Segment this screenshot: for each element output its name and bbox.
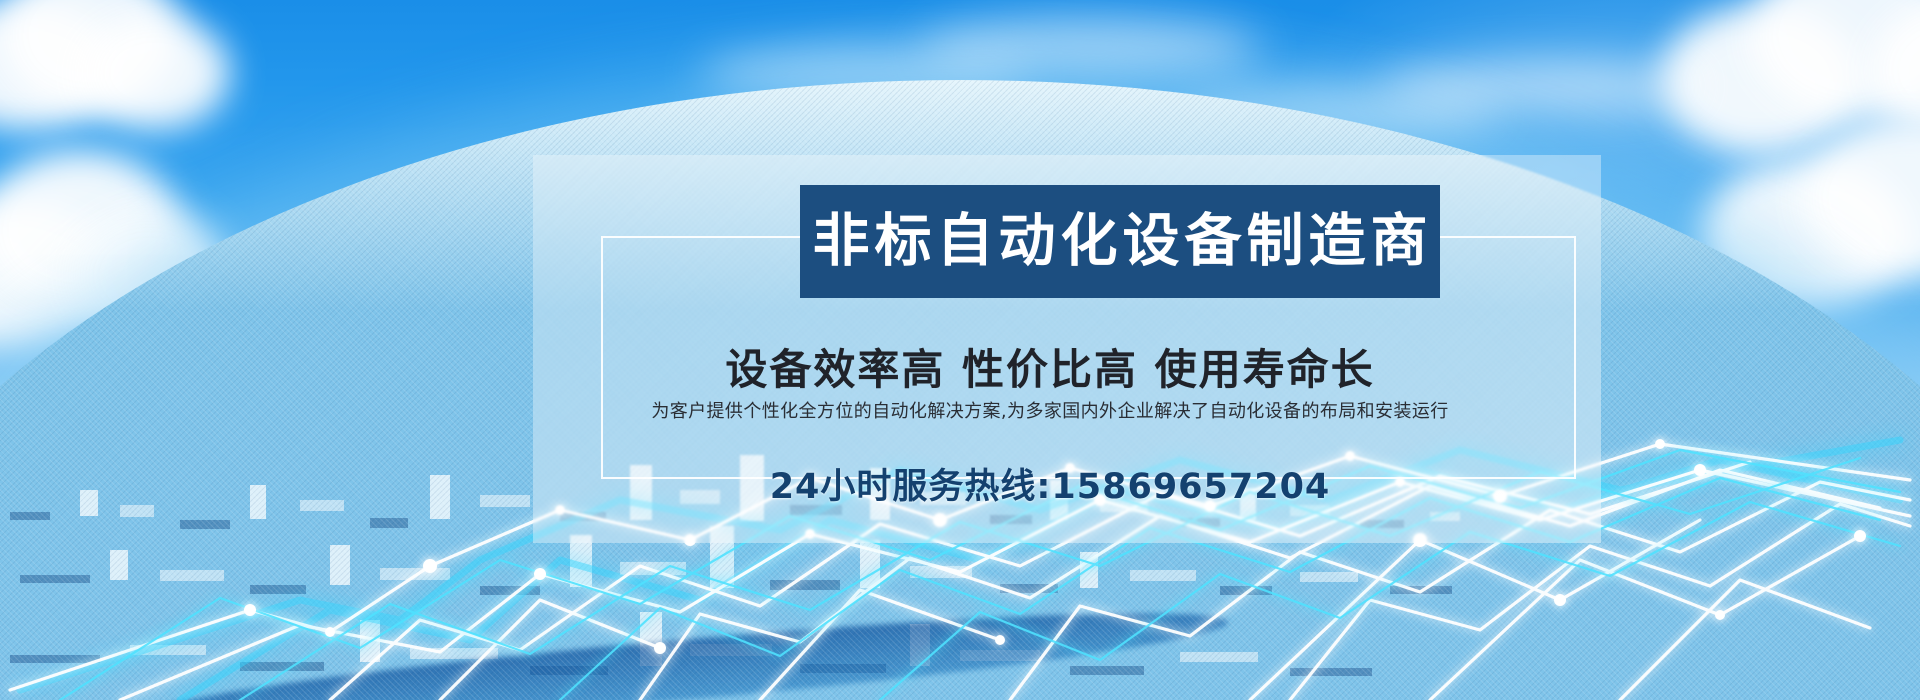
page-title: 非标自动化设备制造商 [808, 213, 1433, 270]
tagline: 设备效率高 性价比高 使用寿命长 [90, 336, 1920, 397]
hotline-text: 24小时服务热线:15869657204 [90, 458, 1920, 509]
main-title-box: 非标自动化设备制造商 [800, 185, 1440, 298]
hero-banner: 非标自动化设备制造商 设备效率高 性价比高 使用寿命长 为客户提供个性化全方位的… [0, 0, 1920, 700]
description-text: 为客户提供个性化全方位的自动化解决方案,为多家国内外企业解决了自动化设备的布局和… [90, 397, 1920, 423]
